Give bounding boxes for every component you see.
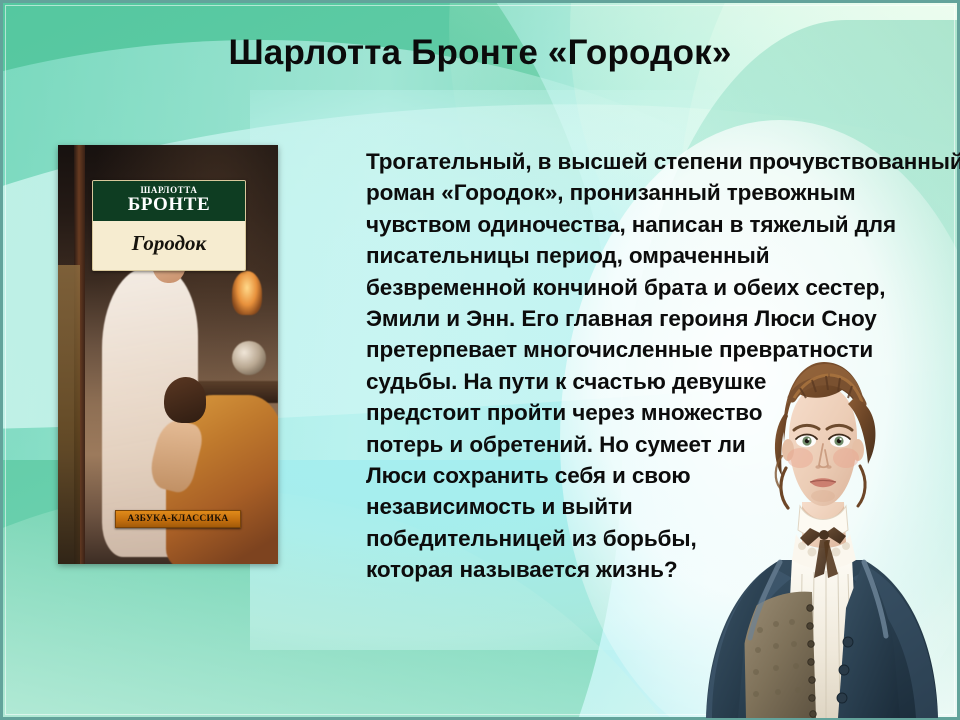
description-line: чувством одиночества, написан в тяжелый …: [366, 209, 911, 240]
victorian-woman-portrait: [688, 346, 956, 718]
book-publisher-band: АЗБУКА-КЛАССИКА: [115, 510, 241, 528]
book-author-panel: ШАРЛОТТА БРОНТЕ: [93, 181, 245, 221]
slide-title: Шарлотта Бронте «Городок»: [0, 32, 960, 74]
painting-seated-woman-head: [164, 377, 206, 423]
book-title-panel: Городок: [93, 221, 245, 270]
painting-curtain: [58, 265, 80, 564]
painting-globe: [232, 341, 266, 375]
presentation-slide: Шарлотта Бронте «Городок» ШАРЛОТТА БРОНТ…: [0, 0, 960, 720]
description-line: роман «Городок», пронизанный тревожным: [366, 177, 911, 208]
description-line: Трогательный, в высшей степени прочувств…: [366, 146, 911, 177]
painting-lamp: [232, 271, 262, 315]
book-cover-label: ШАРЛОТТА БРОНТЕ Городок: [92, 180, 246, 271]
description-line: Эмили и Энн. Его главная героиня Люси Сн…: [366, 303, 911, 334]
book-author-last-name: БРОНТЕ: [97, 195, 241, 215]
description-line: безвременной кончиной брата и обеих сест…: [366, 272, 911, 303]
description-line: писательницы период, омраченный: [366, 240, 911, 271]
book-cover-image: ШАРЛОТТА БРОНТЕ Городок АЗБУКА-КЛАССИКА: [58, 145, 278, 564]
